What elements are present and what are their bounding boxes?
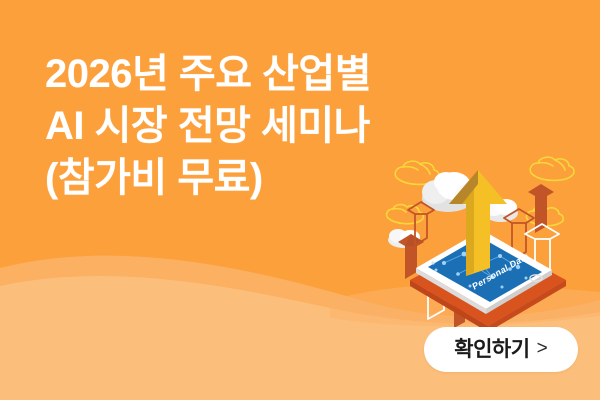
arrow-solid-brown-lower-right: [552, 291, 574, 328]
headline-line-2: AI 시장 전망 세미나: [45, 100, 371, 152]
headline-line-3: (참가비 무료): [45, 152, 371, 204]
page-title: 2026년 주요 산업별 AI 시장 전망 세미나 (참가비 무료): [45, 48, 371, 204]
cloud-data-growth-illustration: Personal Data: [370, 150, 600, 335]
cloud-outline-yellow-3: [530, 157, 574, 180]
confirm-button[interactable]: 확인하기 >: [424, 327, 578, 372]
promo-banner: 2026년 주요 산업별 AI 시장 전망 세미나 (참가비 무료): [0, 0, 600, 400]
headline-line-1: 2026년 주요 산업별: [45, 48, 371, 100]
confirm-button-label: 확인하기: [454, 339, 529, 360]
chevron-right-icon: >: [537, 339, 548, 358]
